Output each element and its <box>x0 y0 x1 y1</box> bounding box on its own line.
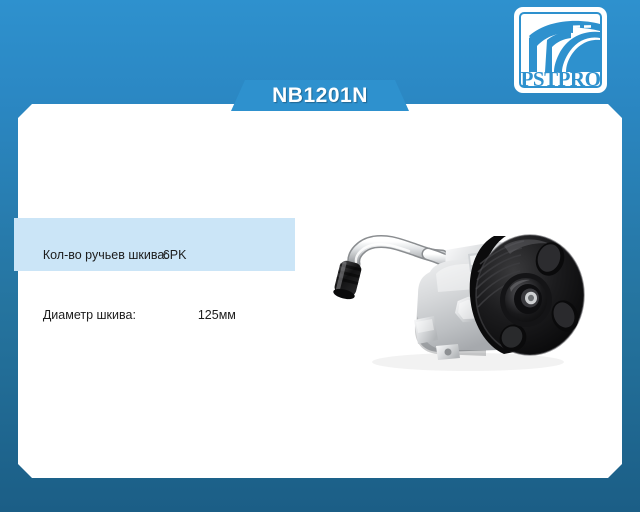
logo-card: PSTPRO <box>514 7 607 93</box>
logo-wordmark: PSTPRO <box>514 69 607 90</box>
pulley <box>470 235 584 357</box>
page-title: NB1201N <box>231 80 409 111</box>
spec-label-diameter: Диаметр шкива: <box>43 305 198 325</box>
hose-fitting <box>332 259 362 301</box>
product-image <box>318 212 586 377</box>
spec-value-diameter: 125мм <box>198 305 236 325</box>
mounting-boss <box>414 316 438 344</box>
power-steering-pump-illustration <box>318 212 586 377</box>
pstpro-logo[interactable]: PSTPRO <box>514 7 614 100</box>
product-card-page: PSTPRO NB1201N Кол-во ручьев шкива:6PK Д… <box>0 0 640 512</box>
spec-box: Кол-во ручьев шкива:6PK Диаметр шкива:12… <box>14 218 295 271</box>
spec-row: Кол-во ручьев шкива:6PK <box>22 225 295 285</box>
spec-label-grooves: Кол-во ручьев шкива: <box>43 245 163 265</box>
spec-row: Диаметр шкива:125мм <box>22 285 295 345</box>
spec-value-grooves: 6PK <box>163 245 187 265</box>
